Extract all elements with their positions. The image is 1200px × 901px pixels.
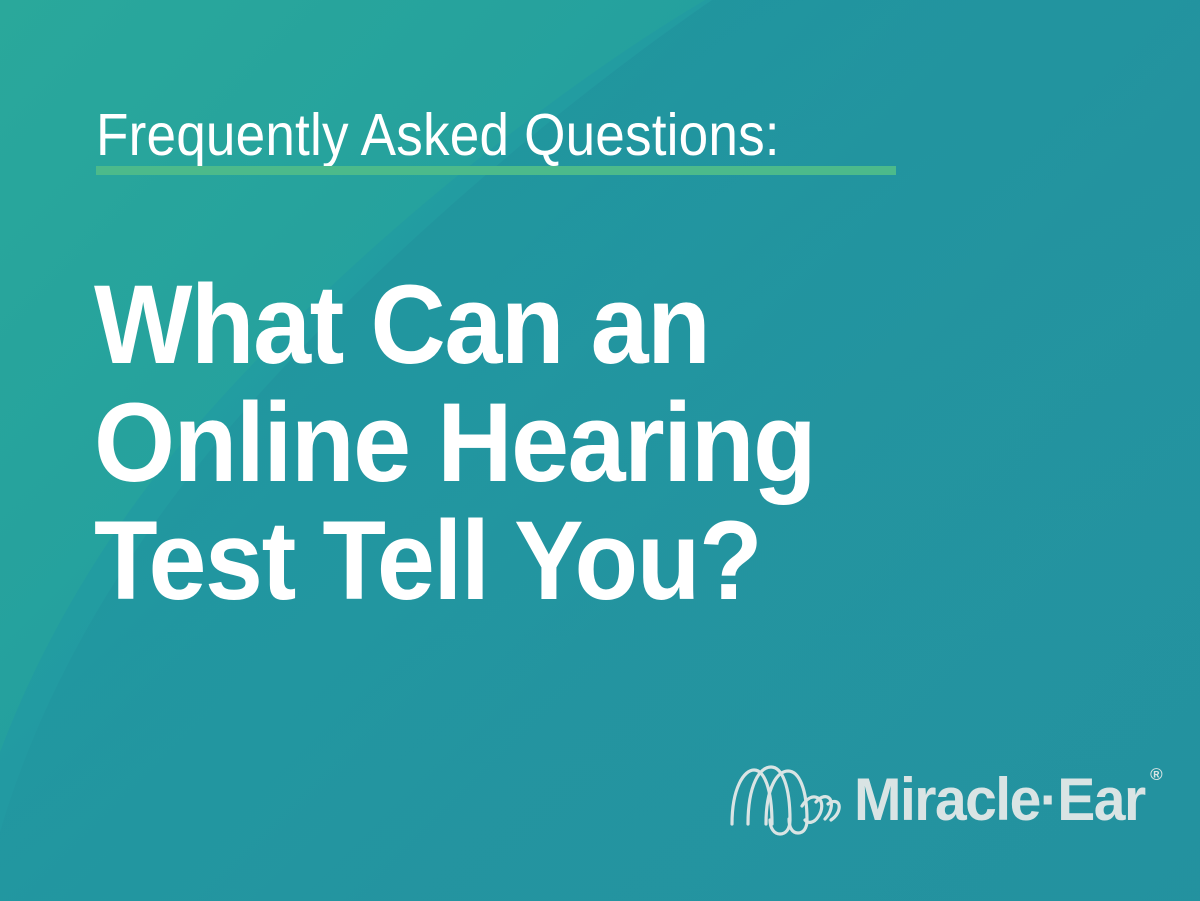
soundwave-icon xyxy=(728,762,848,838)
logo-wordmark-text: Miracle·Ear xyxy=(854,766,1145,833)
logo-wordmark: Miracle·Ear ® xyxy=(854,770,1145,830)
headline-line-2: Online Hearing xyxy=(94,384,1033,502)
miracle-ear-logo: Miracle·Ear ® xyxy=(728,760,1138,840)
page-title: What Can an Online Hearing Test Tell You… xyxy=(94,266,1104,620)
faq-title-slide: Frequently Asked Questions: What Can an … xyxy=(0,0,1200,901)
eyebrow-underline-rule xyxy=(96,166,896,175)
headline-line-1: What Can an xyxy=(94,266,1033,384)
eyebrow-text: Frequently Asked Questions: xyxy=(96,104,996,166)
eyebrow-block: Frequently Asked Questions: xyxy=(96,104,1096,166)
registered-trademark-icon: ® xyxy=(1150,766,1161,783)
headline-line-3: Test Tell You? xyxy=(94,502,1033,620)
